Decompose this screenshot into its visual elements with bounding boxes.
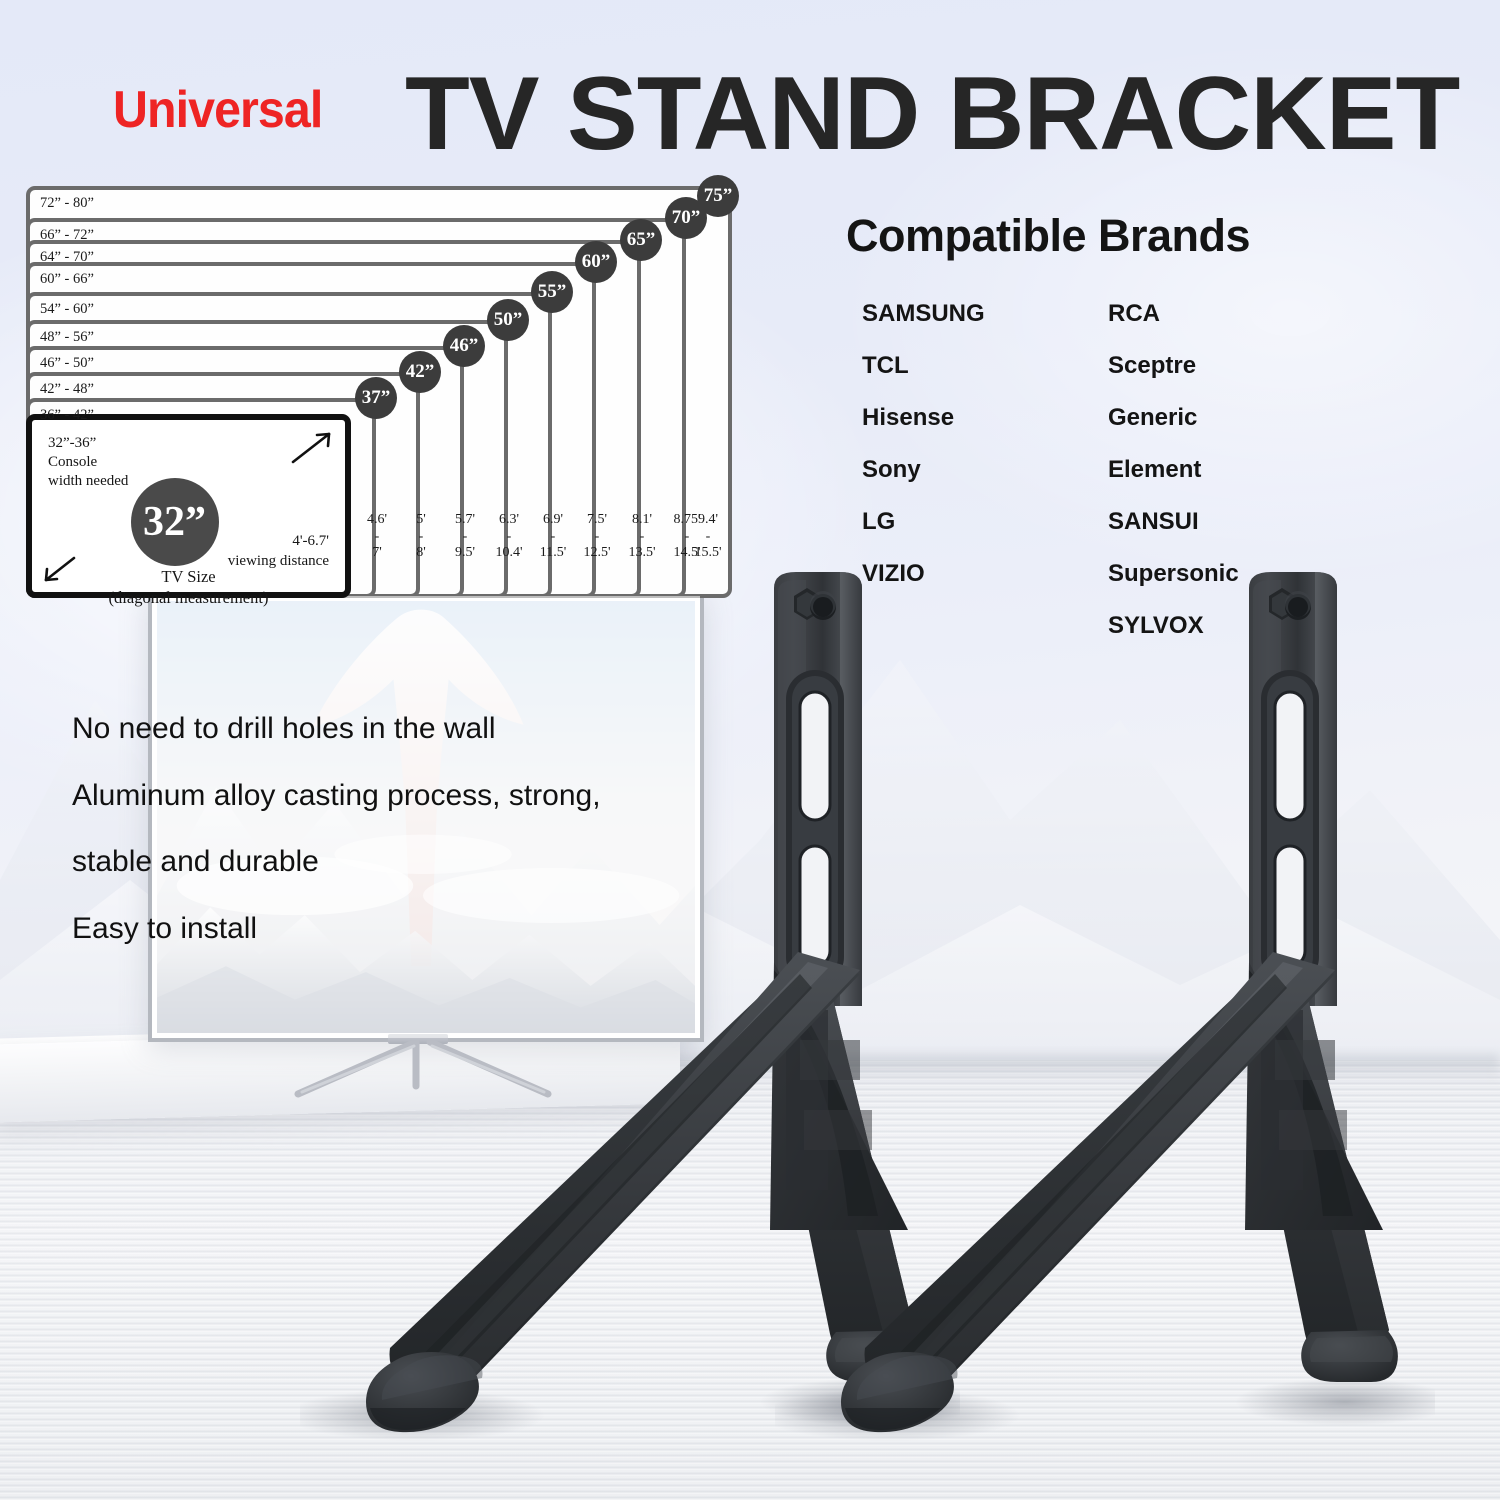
brand-item: LG — [862, 508, 985, 536]
highlight-viewing-distance-value: 4'-6.7' — [292, 533, 329, 549]
viewing-distance-65: 8.1' - 13.5' — [619, 512, 665, 562]
vd-dash: - — [595, 529, 600, 544]
bracket-rear-foot — [1301, 1330, 1398, 1382]
highlight-console-width-line2: Console — [48, 454, 97, 470]
console-width-label-46: 46” - 50” — [40, 355, 94, 372]
size-badge-42: 42” — [399, 351, 441, 393]
console-width-label-60: 60” - 66” — [40, 271, 94, 288]
bracket-shadow — [1235, 1378, 1435, 1426]
size-badge-60: 60” — [575, 241, 617, 283]
viewing-distance-60: 7.5' - 12.5' — [575, 512, 619, 562]
console-width-label-37: 36” - 42” — [40, 407, 94, 424]
highlight-tv-size-label: TV Size — [32, 567, 345, 587]
brand-column-left: SAMSUNG TCL Hisense Sony LG VIZIO — [862, 300, 985, 612]
tv-size-chart: 32”-36” Console width needed 32” 4'-6.7'… — [26, 186, 732, 600]
vd-max: 8' — [416, 545, 426, 560]
size-badge-55: 55” — [531, 271, 573, 313]
viewing-distance-50: 6.3' - 10.4' — [487, 512, 531, 562]
product-infographic: Universal TV STAND BRACKET — [0, 0, 1500, 1500]
console-width-label-50: 48” - 56” — [40, 329, 94, 346]
vd-min: 6.3' — [499, 512, 519, 527]
vd-min: 9.4' — [698, 512, 718, 527]
size-badge-46: 46” — [443, 325, 485, 367]
viewing-distance-75: 9.4' - 15.5' — [684, 512, 732, 562]
vd-min: 7.5' — [587, 512, 607, 527]
vd-min: 5.7' — [455, 512, 475, 527]
brand-item: RCA — [1108, 300, 1239, 328]
brand-item: Hisense — [862, 404, 985, 432]
vd-dash: - — [507, 529, 512, 544]
size-badge-75: 75” — [697, 175, 739, 217]
vd-max: 10.4' — [495, 545, 522, 560]
viewing-distance-55: 6.9' - 11.5' — [531, 512, 575, 562]
vd-min: 5' — [416, 512, 426, 527]
console-width-label-75: 72” - 80” — [40, 195, 94, 212]
bracket-vertical-post — [1249, 572, 1337, 1006]
header: Universal TV STAND BRACKET — [0, 30, 1500, 145]
vd-max: 7' — [372, 545, 382, 560]
tv-stand-bracket-right — [775, 570, 1435, 1450]
brand-item: TCL — [862, 352, 985, 380]
vd-dash: - — [419, 529, 424, 544]
vd-max: 12.5' — [583, 545, 610, 560]
brand-item: Generic — [1108, 404, 1239, 432]
brand-item: Sceptre — [1108, 352, 1239, 380]
brand-item: SAMSUNG — [862, 300, 985, 328]
highlight-viewing-distance: 4'-6.7' viewing distance — [228, 532, 329, 571]
highlight-console-width: 32”-36” Console width needed — [48, 434, 128, 492]
highlight-tv-size-sub: (diagonal measurement) — [32, 588, 345, 608]
header-badge-universal: Universal — [113, 80, 322, 140]
brand-item: Sony — [862, 456, 985, 484]
vd-dash: - — [706, 529, 711, 544]
vd-dash: - — [551, 529, 556, 544]
brand-item: Element — [1108, 456, 1239, 484]
vd-dash: - — [375, 529, 380, 544]
highlight-console-width-line3: width needed — [48, 473, 128, 489]
highlight-size-badge-32: 32” — [131, 478, 219, 566]
viewing-distance-37: 4.6' - 7' — [355, 512, 399, 562]
console-width-label-55: 54” - 60” — [40, 301, 94, 318]
vd-max: 11.5' — [540, 545, 567, 560]
console-width-label-65: 64” - 70” — [40, 249, 94, 266]
viewing-distance-42: 5' - 8' — [399, 512, 443, 562]
brand-item: SANSUI — [1108, 508, 1239, 536]
highlight-console-width-line1: 32”-36” — [48, 435, 96, 451]
vd-max: 9.5' — [455, 545, 475, 560]
compatible-brands-title: Compatible Brands — [846, 210, 1406, 262]
size-badge-50: 50” — [487, 299, 529, 341]
size-badge-37: 37” — [355, 377, 397, 419]
viewing-distance-46: 5.7' - 9.5' — [443, 512, 487, 562]
adjustment-slot-icon — [1275, 692, 1305, 820]
vd-dash: - — [463, 529, 468, 544]
vd-min: 8.1' — [632, 512, 652, 527]
diagonal-arrow-icon — [287, 426, 337, 468]
adjustment-slot-icon — [1275, 846, 1305, 966]
size-badge-65: 65” — [620, 219, 662, 261]
vd-min: 6.9' — [543, 512, 563, 527]
page-title: TV STAND BRACKET — [405, 55, 1459, 174]
console-width-label-42: 42” - 48” — [40, 381, 94, 398]
console-width-label-70: 66” - 72” — [40, 227, 94, 244]
vd-dash: - — [640, 529, 645, 544]
vd-max: 15.5' — [694, 545, 721, 560]
vd-max: 13.5' — [628, 545, 655, 560]
vd-min: 4.6' — [367, 512, 387, 527]
